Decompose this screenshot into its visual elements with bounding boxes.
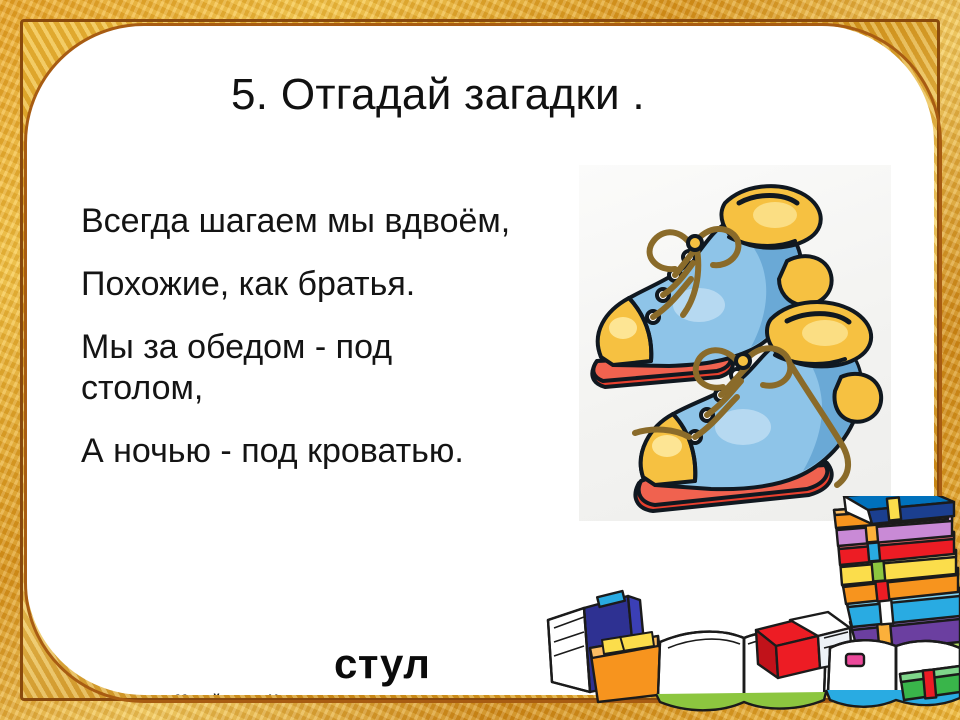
page-title: 5. Отгадай загадки . [231,67,645,123]
riddle-line: Мы за обедом - под столом, [81,327,521,409]
content-panel: 5. Отгадай загадки . Всегда шагаем мы вд… [26,25,934,695]
slide: 5. Отгадай загадки . Всегда шагаем мы вд… [0,0,960,720]
riddle-line: А ночью - под кроватью. [81,431,521,472]
riddle-line: Всегда шагаем мы вдвоём, [81,201,521,242]
sneakers-illustration [579,165,891,521]
riddle-line: Похожие, как братья. [81,264,521,305]
author-credit: © Ольга Михайловна Носова [114,691,320,695]
riddle-answer: стул [334,639,430,689]
riddle-text-block: Всегда шагаем мы вдвоём, Похожие, как бр… [81,201,521,494]
sneakers-image [579,165,891,521]
